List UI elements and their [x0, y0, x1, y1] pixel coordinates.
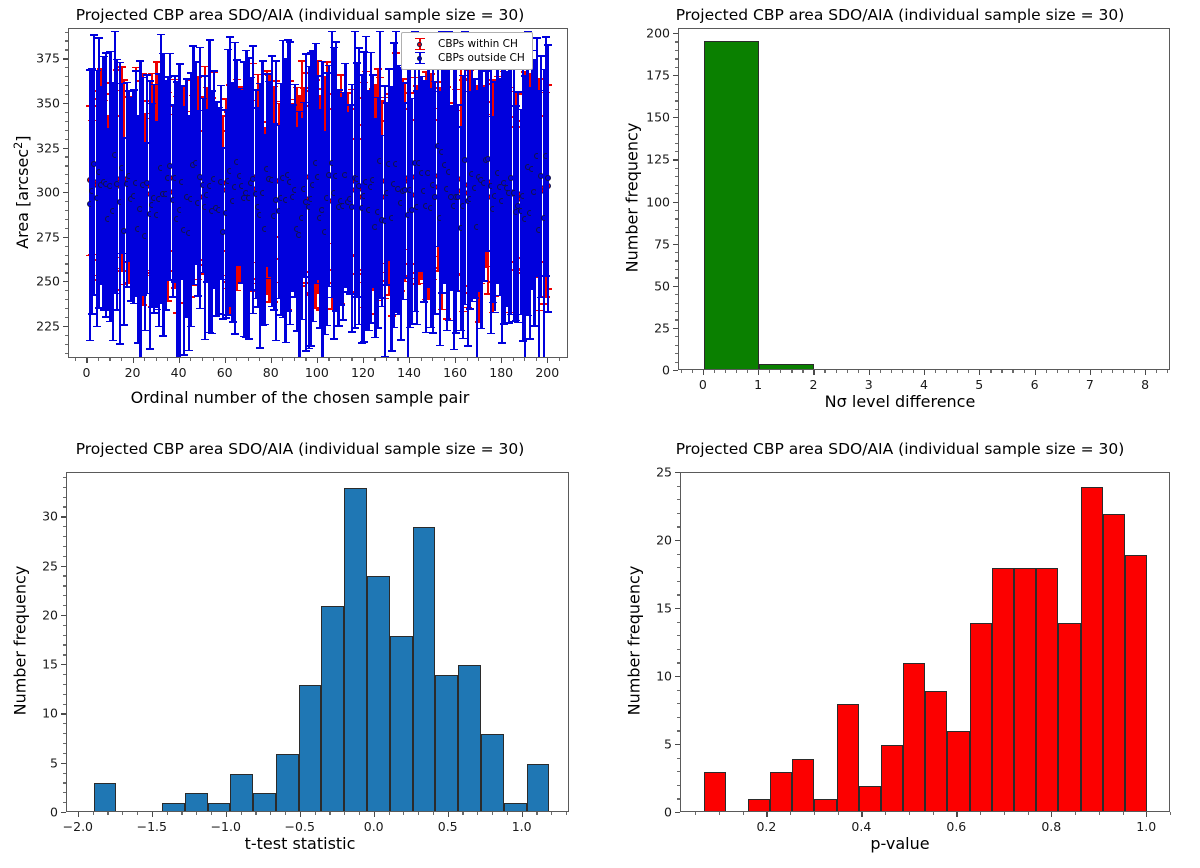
- y-minor-tick: [677, 771, 680, 772]
- legend-marker: [417, 42, 422, 47]
- x-minor-tick: [513, 358, 514, 361]
- x-minor-tick: [507, 812, 508, 815]
- y-tick-label: 300: [36, 185, 60, 200]
- x-tick-label: 0.8: [1041, 819, 1061, 834]
- x-minor-tick: [305, 358, 306, 361]
- x-minor-tick: [747, 370, 748, 373]
- x-tick-label: 0.0: [364, 819, 384, 834]
- y-tick-label: 200: [646, 26, 670, 41]
- x-tick-label: 0: [82, 365, 90, 380]
- y-minor-tick: [65, 112, 68, 113]
- histogram-bar: [253, 793, 276, 811]
- y-minor-tick: [65, 219, 68, 220]
- scatter-xlabel: Ordinal number of the chosen sample pair: [0, 388, 600, 407]
- histogram-bar: [527, 764, 550, 811]
- error-bar-cap: [309, 321, 317, 323]
- x-minor-tick: [98, 358, 99, 361]
- error-bar-cap: [272, 340, 280, 342]
- error-bar-cap: [249, 45, 257, 47]
- y-minor-tick: [677, 513, 680, 514]
- error-bar-cap: [542, 36, 550, 38]
- error-bar-cap: [491, 312, 499, 314]
- y-minor-tick: [675, 67, 678, 68]
- y-minor-tick: [63, 546, 66, 547]
- panel-nsigma-title: Projected CBP area SDO/AIA (individual s…: [600, 6, 1200, 24]
- error-bar-cap: [109, 340, 117, 342]
- y-minor-tick: [65, 335, 68, 336]
- error-bar-cap: [376, 31, 384, 33]
- error-bar-cap: [351, 327, 359, 329]
- scatter-ylabel-text: Area [arcsec: [13, 149, 32, 249]
- y-tick-label: 350: [36, 95, 60, 110]
- x-minor-tick: [492, 812, 493, 815]
- y-major-tick: [63, 148, 68, 149]
- histogram-bar: [859, 786, 881, 811]
- x-minor-tick: [93, 812, 94, 815]
- y-minor-tick: [65, 201, 68, 202]
- histogram-bar: [344, 488, 367, 811]
- y-minor-tick: [675, 50, 678, 51]
- legend-entry: CBPs within CH: [407, 37, 525, 51]
- error-bar-cap: [450, 349, 458, 351]
- x-minor-tick: [167, 358, 168, 361]
- error-bar-cap: [196, 47, 204, 49]
- x-minor-tick: [858, 370, 859, 373]
- x-minor-tick: [695, 812, 696, 815]
- x-minor-tick: [880, 370, 881, 373]
- error-bar-cap: [231, 42, 239, 44]
- y-minor-tick: [65, 40, 68, 41]
- x-tick-label: 60: [217, 365, 233, 380]
- y-minor-tick: [677, 554, 680, 555]
- error-bar-cap: [429, 332, 437, 334]
- x-minor-tick: [121, 358, 122, 361]
- x-major-tick: [225, 358, 226, 363]
- x-minor-tick: [1075, 812, 1076, 815]
- error-bar-cap: [348, 331, 356, 333]
- x-minor-tick: [536, 358, 537, 361]
- error-bar-cap: [360, 341, 368, 343]
- error-bar-cap: [388, 350, 396, 352]
- y-minor-tick: [677, 703, 680, 704]
- legend-label: CBPs within CH: [438, 37, 518, 51]
- y-minor-tick: [675, 319, 678, 320]
- y-minor-tick: [675, 126, 678, 127]
- error-bar-cap: [332, 41, 340, 43]
- y-minor-tick: [65, 263, 68, 264]
- y-major-tick: [675, 676, 680, 677]
- error-bar-cap: [305, 348, 313, 350]
- error-bar-cap: [111, 31, 119, 33]
- y-major-tick: [675, 608, 680, 609]
- x-minor-tick: [167, 812, 168, 815]
- x-major-tick: [1146, 812, 1147, 817]
- x-major-tick: [956, 812, 957, 817]
- x-minor-tick: [566, 812, 567, 815]
- y-minor-tick: [677, 635, 680, 636]
- x-minor-tick: [1046, 370, 1047, 373]
- x-major-tick: [501, 358, 502, 363]
- y-major-tick: [673, 286, 678, 287]
- y-major-tick: [63, 192, 68, 193]
- y-major-tick: [61, 763, 66, 764]
- x-minor-tick: [714, 370, 715, 373]
- y-minor-tick: [675, 176, 678, 177]
- histogram-bar: [903, 663, 925, 811]
- error-bar-cap: [335, 89, 343, 91]
- y-tick-label: 100: [646, 194, 670, 209]
- x-minor-tick: [122, 812, 123, 815]
- histogram-bar: [1014, 568, 1036, 811]
- legend-symbol: [407, 37, 433, 51]
- y-tick-label: 25: [654, 320, 670, 335]
- y-minor-tick: [65, 353, 68, 354]
- panel-ttest-title: Projected CBP area SDO/AIA (individual s…: [0, 440, 600, 458]
- y-minor-tick: [65, 76, 68, 77]
- y-tick-label: 5: [50, 755, 58, 770]
- y-minor-tick: [65, 156, 68, 157]
- x-tick-label: 2: [809, 377, 817, 392]
- pvalue-axes: [680, 472, 1170, 812]
- y-major-tick: [63, 103, 68, 104]
- y-tick-label: 25: [42, 558, 58, 573]
- error-bar-cap: [123, 82, 131, 84]
- x-minor-tick: [421, 358, 422, 361]
- y-minor-tick: [65, 228, 68, 229]
- y-minor-tick: [63, 773, 66, 774]
- histogram-bar: [321, 606, 344, 811]
- x-minor-tick: [386, 358, 387, 361]
- x-minor-tick: [433, 812, 434, 815]
- error-bar-cap: [146, 348, 154, 350]
- y-minor-tick: [675, 345, 678, 346]
- y-minor-tick: [675, 92, 678, 93]
- scatter-legend: CBPs within CHCBPs outside CH: [401, 32, 533, 70]
- x-minor-tick: [780, 370, 781, 373]
- error-bar-cap: [212, 315, 220, 317]
- y-minor-tick: [63, 556, 66, 557]
- error-bar-cap: [116, 62, 124, 64]
- x-minor-tick: [1004, 812, 1005, 815]
- ttest-xlabel: t-test statistic: [0, 834, 600, 853]
- x-minor-tick: [294, 358, 295, 361]
- error-bar-cap: [180, 354, 188, 356]
- x-minor-tick: [478, 358, 479, 361]
- y-minor-tick: [63, 644, 66, 645]
- y-major-tick: [61, 664, 66, 665]
- x-major-tick: [133, 358, 134, 363]
- x-minor-tick: [397, 358, 398, 361]
- y-minor-tick: [677, 662, 680, 663]
- panel-nsigma-hist: Projected CBP area SDO/AIA (individual s…: [600, 0, 1200, 434]
- histogram-bar: [837, 704, 859, 811]
- y-minor-tick: [63, 625, 66, 626]
- x-minor-tick: [202, 358, 203, 361]
- error-bar-cap: [217, 85, 225, 87]
- y-minor-tick: [63, 536, 66, 537]
- y-minor-tick: [63, 792, 66, 793]
- x-minor-tick: [107, 812, 108, 815]
- x-minor-tick: [432, 358, 433, 361]
- y-minor-tick: [675, 362, 678, 363]
- error-bar-cap: [392, 31, 400, 33]
- y-minor-tick: [675, 58, 678, 59]
- y-minor-tick: [675, 303, 678, 304]
- y-tick-label: 275: [36, 229, 60, 244]
- histogram-bar: [94, 783, 117, 811]
- y-tick-label: 50: [654, 278, 670, 293]
- x-minor-tick: [524, 358, 525, 361]
- y-tick-label: 15: [42, 657, 58, 672]
- x-minor-tick: [847, 370, 848, 373]
- x-major-tick: [1051, 812, 1052, 817]
- y-minor-tick: [677, 526, 680, 527]
- error-bar-cap: [544, 311, 552, 313]
- x-tick-label: 0.5: [438, 819, 458, 834]
- histogram-bar: [748, 799, 770, 811]
- histogram-bar: [390, 636, 413, 811]
- error-bar-cap: [443, 330, 451, 332]
- x-tick-label: 0.4: [851, 819, 871, 834]
- y-minor-tick: [675, 168, 678, 169]
- histogram-bar: [458, 665, 481, 811]
- histogram-bar: [276, 754, 299, 811]
- x-major-tick: [813, 370, 814, 375]
- y-major-tick: [61, 566, 66, 567]
- histogram-bar: [435, 675, 458, 811]
- x-minor-tick: [1123, 370, 1124, 373]
- y-minor-tick: [63, 674, 66, 675]
- histogram-bar: [970, 623, 992, 811]
- x-minor-tick: [477, 812, 478, 815]
- error-bar-cap: [113, 59, 121, 61]
- x-minor-tick: [236, 358, 237, 361]
- histogram-bar: [230, 774, 253, 811]
- scatter-ylabel-exponent: 2: [12, 142, 25, 149]
- y-minor-tick: [63, 477, 66, 478]
- panel-pvalue-title: Projected CBP area SDO/AIA (individual s…: [600, 440, 1200, 458]
- y-minor-tick: [63, 782, 66, 783]
- error-bar-cap: [367, 52, 375, 54]
- x-tick-label: 0.6: [946, 819, 966, 834]
- x-minor-tick: [990, 370, 991, 373]
- error-bar-cap: [93, 326, 101, 328]
- y-major-tick: [63, 58, 68, 59]
- y-tick-label: 250: [36, 274, 60, 289]
- error-bar-cap: [116, 343, 124, 345]
- y-major-tick: [675, 812, 680, 813]
- error-bar-cap: [365, 330, 373, 332]
- x-major-tick: [226, 812, 227, 817]
- nsigma-axes: [678, 28, 1170, 370]
- x-major-tick: [374, 812, 375, 817]
- error-bar-cap: [226, 36, 234, 38]
- figure-canvas: Projected CBP area SDO/AIA (individual s…: [0, 0, 1200, 868]
- error-bar-cap: [369, 74, 377, 76]
- error-bar-cap: [436, 345, 444, 347]
- x-minor-tick: [802, 370, 803, 373]
- y-minor-tick: [65, 174, 68, 175]
- x-tick-label: 0.2: [756, 819, 776, 834]
- error-bar-cap: [544, 44, 552, 46]
- x-minor-tick: [1099, 812, 1100, 815]
- y-minor-tick: [63, 506, 66, 507]
- y-tick-label: 0: [662, 363, 670, 378]
- x-minor-tick: [282, 358, 283, 361]
- y-major-tick: [675, 744, 680, 745]
- histogram-bar: [925, 691, 947, 811]
- y-minor-tick: [677, 581, 680, 582]
- y-minor-tick: [65, 272, 68, 273]
- histogram-bar: [704, 772, 726, 811]
- y-tick-label: 10: [42, 706, 58, 721]
- x-minor-tick: [156, 358, 157, 361]
- y-minor-tick: [675, 100, 678, 101]
- y-tick-label: 0: [50, 805, 58, 820]
- y-major-tick: [61, 615, 66, 616]
- error-bar-cap: [146, 80, 154, 82]
- y-minor-tick: [63, 704, 66, 705]
- x-minor-tick: [248, 358, 249, 361]
- y-minor-tick: [63, 585, 66, 586]
- scatter-plot-area: [69, 29, 567, 357]
- y-minor-tick: [675, 353, 678, 354]
- x-minor-tick: [1123, 812, 1124, 815]
- x-minor-tick: [285, 812, 286, 815]
- error-bar-cap: [477, 328, 485, 330]
- x-minor-tick: [1134, 370, 1135, 373]
- y-minor-tick: [63, 526, 66, 527]
- x-minor-tick: [933, 812, 934, 815]
- histogram-bar: [814, 799, 836, 811]
- x-tick-label: 6: [1031, 377, 1039, 392]
- error-bar-cap: [466, 308, 474, 310]
- y-minor-tick: [675, 193, 678, 194]
- x-minor-tick: [885, 812, 886, 815]
- x-major-tick: [766, 812, 767, 817]
- x-minor-tick: [255, 812, 256, 815]
- x-minor-tick: [980, 812, 981, 815]
- x-major-tick: [1035, 370, 1036, 375]
- x-minor-tick: [259, 358, 260, 361]
- y-major-tick: [675, 540, 680, 541]
- x-tick-label: 200: [535, 365, 559, 380]
- error-bar-cap: [259, 60, 267, 62]
- y-minor-tick: [65, 210, 68, 211]
- x-minor-tick: [490, 358, 491, 361]
- error-bar-cap: [272, 60, 280, 62]
- histogram-bar: [481, 734, 504, 811]
- y-minor-tick: [63, 753, 66, 754]
- y-minor-tick: [675, 41, 678, 42]
- x-minor-tick: [181, 812, 182, 815]
- y-minor-tick: [675, 235, 678, 236]
- error-bar-cap: [143, 74, 151, 76]
- error-bar-cap: [397, 339, 405, 341]
- data-point: [545, 175, 551, 181]
- y-tick-label: 20: [656, 533, 672, 548]
- x-major-tick: [300, 812, 301, 817]
- y-major-tick: [673, 33, 678, 34]
- y-major-tick: [673, 117, 678, 118]
- ttest-plot-area: [67, 473, 568, 811]
- y-tick-label: 30: [42, 509, 58, 524]
- y-minor-tick: [675, 218, 678, 219]
- y-tick-label: 25: [656, 465, 672, 480]
- x-minor-tick: [211, 812, 212, 815]
- y-minor-tick: [675, 252, 678, 253]
- y-minor-tick: [677, 730, 680, 731]
- histogram-bar: [1036, 568, 1058, 811]
- x-major-tick: [1145, 370, 1146, 375]
- y-minor-tick: [63, 487, 66, 488]
- nsigma-ylabel: Number frequency: [623, 27, 642, 369]
- y-minor-tick: [675, 311, 678, 312]
- legend-cap-bottom: [415, 63, 425, 64]
- error-bar-cap: [185, 350, 193, 352]
- x-tick-label: −0.5: [285, 819, 315, 834]
- y-tick-label: 10: [656, 669, 672, 684]
- error-bar-cap: [418, 76, 426, 78]
- histogram-bar: [881, 745, 903, 811]
- legend-cap-top: [415, 38, 425, 39]
- y-minor-tick: [63, 497, 66, 498]
- x-minor-tick: [1028, 812, 1029, 815]
- y-minor-tick: [677, 690, 680, 691]
- x-major-tick: [152, 812, 153, 817]
- x-minor-tick: [1068, 370, 1069, 373]
- error-bar-cap: [120, 79, 128, 81]
- scatter-ylabel-bracket: ]: [13, 136, 32, 142]
- y-minor-tick: [675, 210, 678, 211]
- x-major-tick: [522, 812, 523, 817]
- x-major-tick: [1090, 370, 1091, 375]
- error-bar-cap: [533, 37, 541, 39]
- histogram-bar: [947, 731, 969, 811]
- y-minor-tick: [677, 486, 680, 487]
- y-minor-tick: [675, 227, 678, 228]
- error-bar-cap: [498, 342, 506, 344]
- x-major-tick: [78, 812, 79, 817]
- error-bar-cap: [249, 313, 257, 315]
- histogram-bar: [1058, 623, 1080, 811]
- legend-label: CBPs outside CH: [438, 51, 525, 65]
- histogram-bar: [185, 793, 208, 811]
- y-minor-tick: [63, 605, 66, 606]
- x-major-tick: [409, 358, 410, 363]
- y-minor-tick: [675, 294, 678, 295]
- error-bar-cap: [390, 327, 398, 329]
- y-minor-tick: [65, 32, 68, 33]
- y-tick-label: 175: [646, 68, 670, 83]
- y-tick-label: 375: [36, 51, 60, 66]
- y-minor-tick: [65, 344, 68, 345]
- error-bar-cap: [330, 338, 338, 340]
- histogram-bar: [1103, 514, 1125, 811]
- x-minor-tick: [344, 812, 345, 815]
- x-major-tick: [979, 370, 980, 375]
- x-minor-tick: [241, 812, 242, 815]
- x-minor-tick: [790, 812, 791, 815]
- x-minor-tick: [109, 358, 110, 361]
- y-major-tick: [675, 472, 680, 473]
- error-bar-cap: [208, 333, 216, 335]
- y-minor-tick: [677, 567, 680, 568]
- error-bar-cap: [201, 339, 209, 341]
- x-minor-tick: [359, 812, 360, 815]
- y-minor-tick: [65, 139, 68, 140]
- histogram-bar: [299, 685, 322, 811]
